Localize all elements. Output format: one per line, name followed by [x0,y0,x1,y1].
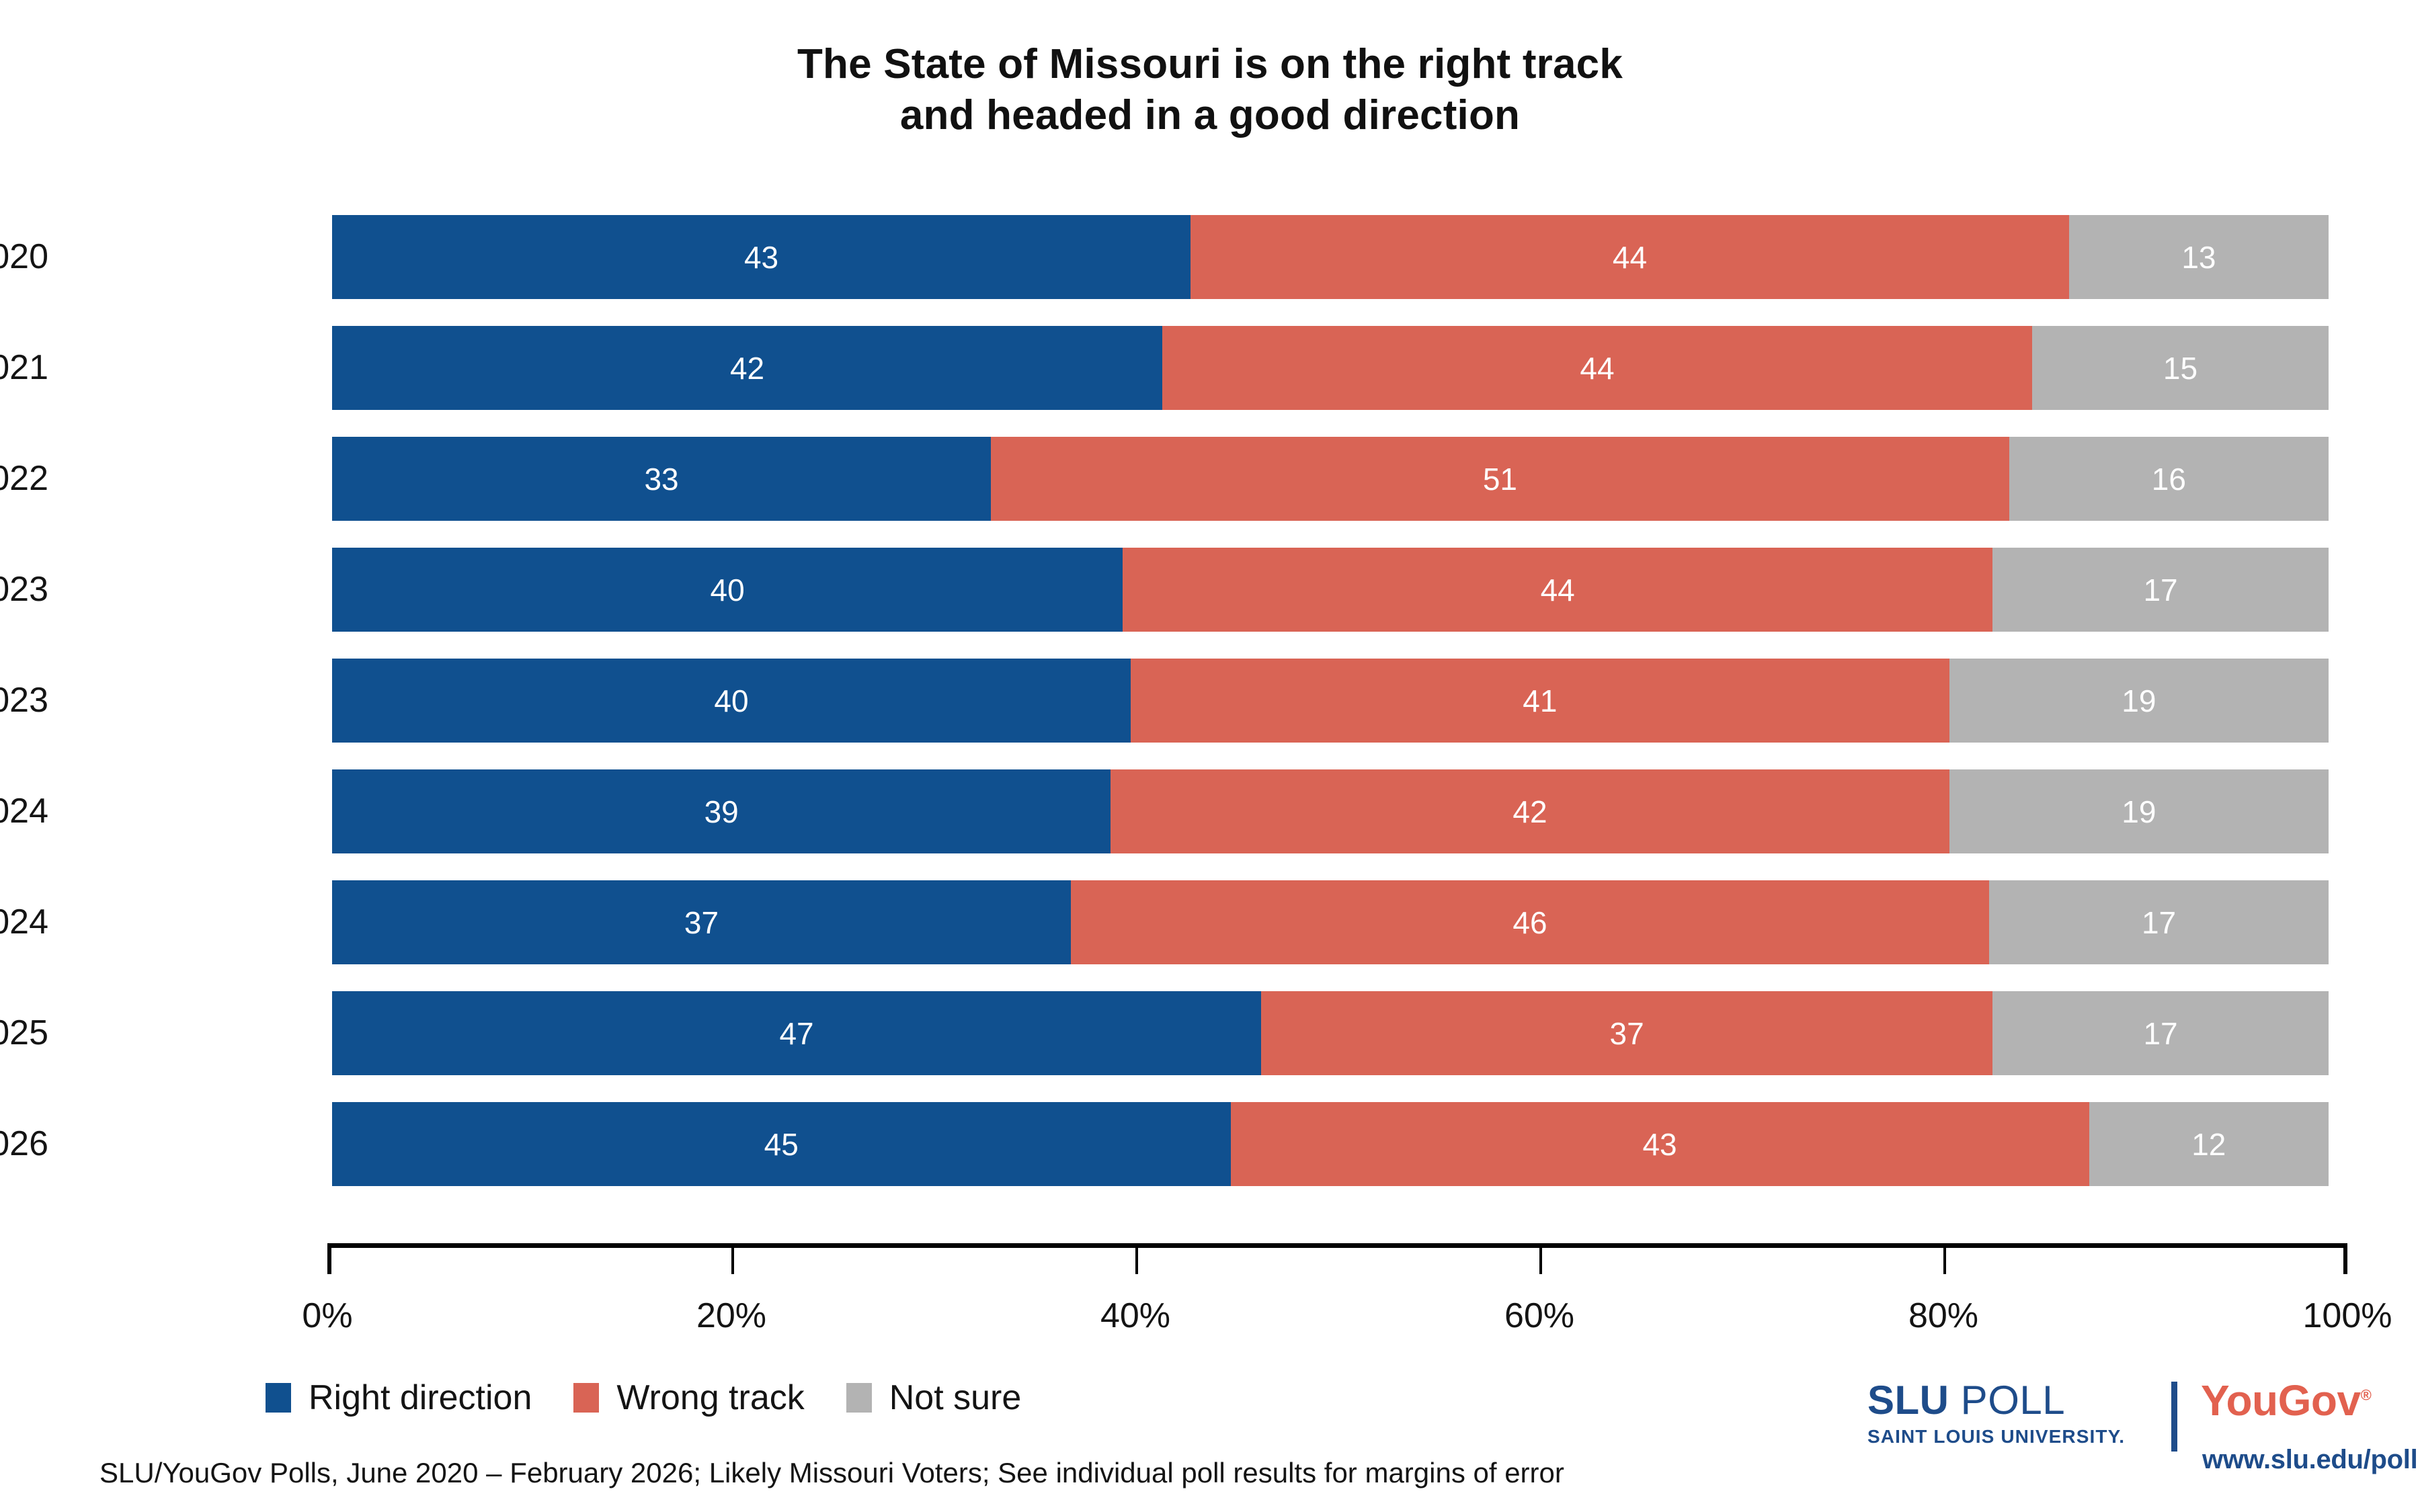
bar-row: 335116 [332,437,2329,521]
bar-segment-right-direction[interactable]: 47 [332,991,1261,1075]
x-axis-tick [1539,1243,1542,1274]
bar-row: 394219 [332,769,2329,853]
slu-poll-logo: SLU POLL SAINT LOUIS UNIVERSITY. [1867,1380,2163,1446]
bar-value-label: 17 [2143,1018,2177,1049]
legend-item-2[interactable]: Wrong track [573,1378,804,1418]
bar-value-label: 15 [2163,353,2197,384]
x-axis-tick [1943,1243,1946,1274]
x-axis: 0%20%40%60%80%100% [327,1243,2347,1244]
category-label-3: Aug. 2022 [0,437,48,521]
saint-louis-university-text: SAINT LOUIS UNIVERSITY. [1867,1427,2163,1446]
title-line-1: The State of Missouri is on the right tr… [0,39,2420,90]
bar-segment-wrong-track[interactable]: 46 [1071,880,1989,964]
slu-poll-url[interactable]: www.slu.edu/poll [2202,1445,2417,1475]
bar-segment-wrong-track[interactable]: 42 [1111,769,1949,853]
bar-segment-wrong-track[interactable]: 44 [1162,326,2032,410]
slu-poll-wordmark: SLU POLL [1867,1380,2163,1421]
bar-value-label: 42 [730,353,764,384]
poll-light-text: POLL [1949,1378,2066,1423]
bar-row: 404417 [332,548,2329,632]
bar-value-label: 46 [1513,907,1547,938]
logo-group: SLU POLL SAINT LOUIS UNIVERSITY. YouGov®… [1867,1375,2378,1482]
bar-value-label: 12 [2191,1129,2226,1160]
category-label-2: July 2021 [0,326,48,410]
bar-segment-not-sure[interactable]: 17 [1992,548,2329,632]
bar-row: 434413 [332,215,2329,299]
bar-value-label: 44 [1613,242,1647,273]
category-label-7: Aug. 2024 [0,880,48,964]
bar-value-label: 44 [1541,575,1575,605]
x-axis-tick-label: 80% [1843,1296,2044,1336]
legend-label: Not sure [889,1378,1022,1418]
bar-row: 404119 [332,659,2329,743]
bar-value-label: 16 [2152,464,2186,495]
bar-value-label: 44 [1580,353,1614,384]
bar-value-label: 45 [764,1129,799,1160]
legend-item-1[interactable]: Right direction [266,1378,532,1418]
source-footnote: SLU/YouGov Polls, June 2020 – February 2… [99,1457,1564,1489]
bar-value-label: 37 [684,907,719,938]
bar-segment-wrong-track[interactable]: 44 [1123,548,1992,632]
bar-value-label: 43 [1642,1129,1677,1160]
bar-row: 454312 [332,1102,2329,1186]
chart-legend: Right directionWrong trackNot sure [266,1378,1063,1418]
legend-label: Wrong track [616,1378,804,1418]
bar-segment-not-sure[interactable]: 19 [1949,659,2329,743]
bar-value-label: 33 [644,464,678,495]
legend-swatch-icon [266,1383,291,1413]
x-axis-tick [2343,1243,2347,1274]
bar-segment-right-direction[interactable]: 33 [332,437,991,521]
bar-segment-not-sure[interactable]: 16 [2009,437,2329,521]
title-line-2: and headed in a good direction [0,90,2420,141]
bar-segment-wrong-track[interactable]: 37 [1261,991,1992,1075]
bar-segment-wrong-track[interactable]: 44 [1191,215,2069,299]
bar-value-label: 17 [2143,575,2177,605]
x-axis-tick-label: 40% [1035,1296,1236,1336]
bar-segment-not-sure[interactable]: 17 [1989,880,2329,964]
category-label-6: Feb. 2024 [0,769,48,853]
bar-segment-not-sure[interactable]: 12 [2089,1102,2329,1186]
x-axis-tick-label: 100% [2247,1296,2420,1336]
bar-value-label: 47 [779,1018,813,1049]
bar-row: 374617 [332,880,2329,964]
bar-value-label: 43 [744,242,778,273]
bar-segment-right-direction[interactable]: 40 [332,659,1131,743]
bar-row: 473717 [332,991,2329,1075]
category-label-5: Aug. 2023 [0,659,48,743]
x-axis-tick [1135,1243,1138,1274]
bar-value-label: 17 [2142,907,2176,938]
x-axis-tick-label: 20% [631,1296,832,1336]
x-axis-line [327,1243,2347,1248]
bar-segment-right-direction[interactable]: 43 [332,215,1191,299]
bar-value-label: 37 [1610,1018,1644,1049]
slu-bold-text: SLU [1867,1378,1949,1423]
bar-value-label: 40 [714,685,748,716]
chart-plot-area: 4344134244153351164044174041193942193746… [332,215,2329,1216]
legend-item-3[interactable]: Not sure [846,1378,1022,1418]
bar-segment-wrong-track[interactable]: 43 [1231,1102,2089,1186]
bar-value-label: 42 [1513,796,1547,827]
bar-value-label: 39 [704,796,739,827]
category-label-4: Feb. 2023 [0,548,48,632]
bar-segment-right-direction[interactable]: 40 [332,548,1123,632]
bar-segment-right-direction[interactable]: 37 [332,880,1071,964]
bar-row: 424415 [332,326,2329,410]
bar-value-label: 51 [1483,464,1517,495]
yougov-logo: YouGov® [2201,1379,2371,1422]
x-axis-tick-label: 60% [1439,1296,1640,1336]
logo-divider [2171,1382,2177,1452]
category-label-1: Oct. 2020 [0,215,48,299]
page-title: The State of Missouri is on the right tr… [0,39,2420,140]
category-label-9: Feb. 2026 [0,1102,48,1186]
legend-swatch-icon [846,1383,872,1413]
registered-trademark-icon: ® [2361,1387,2372,1404]
bar-value-label: 19 [2122,796,2156,827]
bar-value-label: 40 [711,575,745,605]
bar-value-label: 19 [2122,685,2156,716]
x-axis-tick [731,1243,734,1274]
x-axis-tick-label: 0% [227,1296,428,1336]
category-label-8: Feb. 2025 [0,991,48,1075]
legend-label: Right direction [309,1378,532,1418]
bar-segment-not-sure[interactable]: 13 [2069,215,2329,299]
bar-segment-right-direction[interactable]: 39 [332,769,1111,853]
bar-segment-not-sure[interactable]: 19 [1949,769,2329,853]
bar-segment-right-direction[interactable]: 42 [332,326,1162,410]
legend-swatch-icon [573,1383,599,1413]
yougov-wordmark: YouGov [2201,1376,2361,1425]
bar-segment-right-direction[interactable]: 45 [332,1102,1231,1186]
bar-segment-not-sure[interactable]: 17 [1992,991,2329,1075]
bar-segment-wrong-track[interactable]: 51 [991,437,2009,521]
bar-segment-wrong-track[interactable]: 41 [1131,659,1949,743]
bar-value-label: 41 [1523,685,1557,716]
x-axis-tick [327,1243,331,1274]
bar-value-label: 13 [2181,242,2216,273]
bar-segment-not-sure[interactable]: 15 [2032,326,2329,410]
